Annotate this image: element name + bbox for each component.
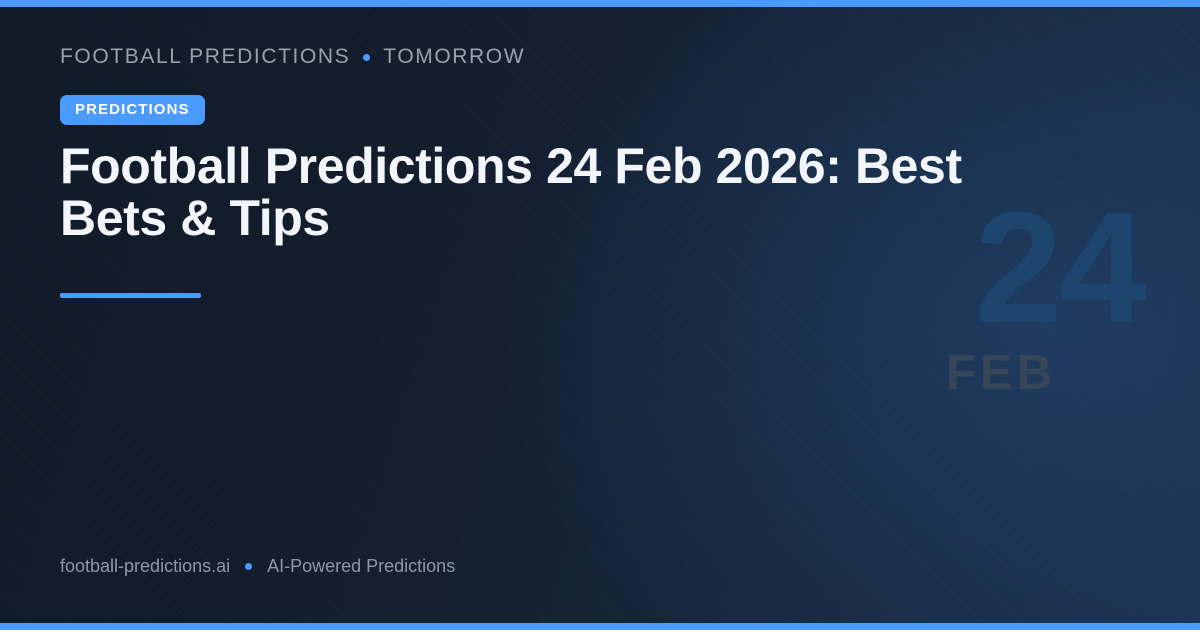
breadcrumb: FOOTBALL PREDICTIONS TOMORROW bbox=[60, 45, 525, 69]
footer-tagline: AI-Powered Predictions bbox=[267, 556, 455, 577]
breadcrumb-timeframe: TOMORROW bbox=[383, 45, 525, 69]
social-share-card: 24 FEB FOOTBALL PREDICTIONS TOMORROW PRE… bbox=[0, 0, 1200, 630]
title-accent-rule bbox=[60, 293, 201, 298]
content-area: FOOTBALL PREDICTIONS TOMORROW PREDICTION… bbox=[60, 0, 1160, 630]
status-badge: PREDICTIONS bbox=[60, 95, 205, 125]
breadcrumb-category: FOOTBALL PREDICTIONS bbox=[60, 45, 350, 69]
bullet-separator-icon bbox=[245, 563, 252, 570]
bullet-separator-icon bbox=[363, 54, 370, 61]
footer: football-predictions.ai AI-Powered Predi… bbox=[60, 556, 455, 577]
page-title: Football Predictions 24 Feb 2026: Best B… bbox=[60, 140, 1070, 244]
footer-site-name: football-predictions.ai bbox=[60, 556, 230, 577]
